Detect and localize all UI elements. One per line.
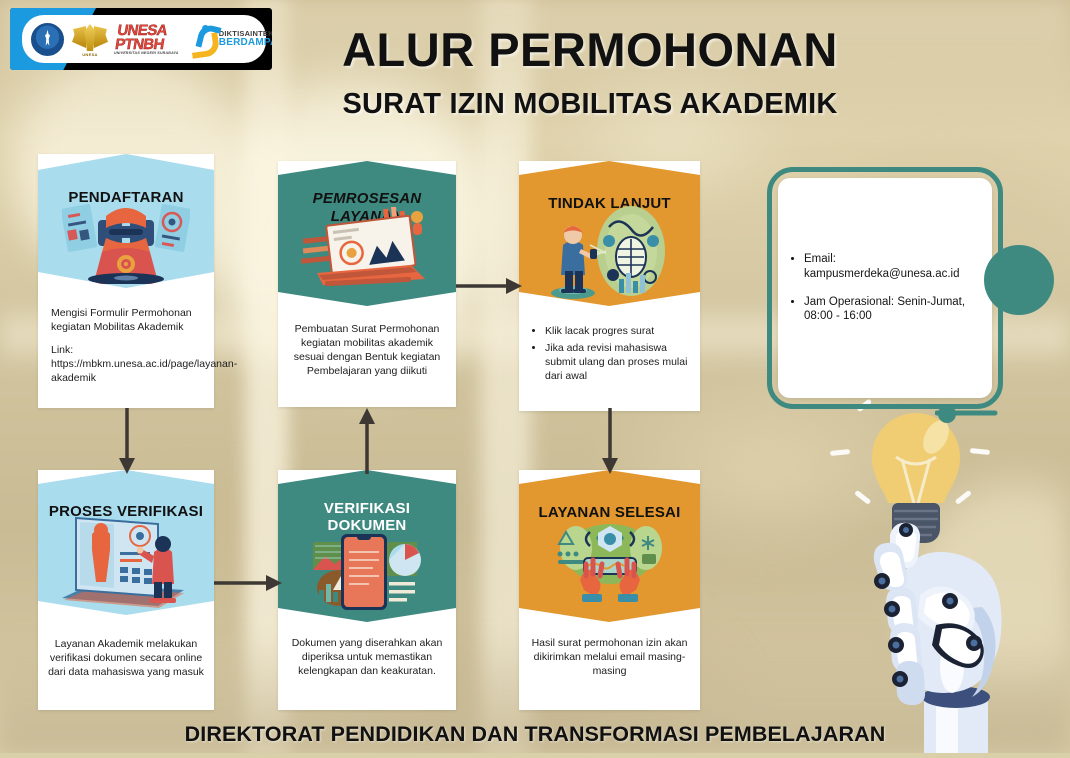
person-tracking-progress-icon (535, 205, 685, 301)
contact-email-item[interactable]: Email: kampusmerdeka@unesa.ac.id (804, 252, 965, 282)
garuda-caption: UNESA (82, 52, 98, 57)
step-card-pendaftaran[interactable]: PENDAFTARAN (38, 154, 214, 408)
contact-hours-label: Jam Operasional: Senin-Jumat, (804, 295, 965, 310)
step-header-tindak-lanjut: TINDAK LANJUT (519, 161, 700, 306)
person-checking-panel-icon (54, 512, 202, 610)
step-bullet: Jika ada revisi mahasiswa submit ulang d… (545, 341, 691, 383)
person-with-screens-icon (62, 198, 190, 284)
step-body: Layanan Akademik melakukan verifikasi do… (38, 637, 214, 679)
step-body: Pembuatan Surat Permohonan kegiatan mobi… (278, 322, 456, 378)
diktisaintek-swoosh-icon (189, 25, 215, 53)
arrow-right-verifikasi-to-dokumen (214, 574, 282, 592)
garuda-emblem-icon: UNESA (71, 22, 109, 56)
contact-email-value: kampusmerdeka@unesa.ac.id (804, 268, 960, 280)
arrow-down-pendaftaran-to-verifikasi (118, 408, 136, 474)
unesa-ptnbh-wordmark: UNESA PTNBH UNIVERSITAS NEGERI SURABAYA (114, 24, 184, 55)
ptnbh-line-2: PTNBH (114, 37, 181, 51)
diktisaintek-line-2: BERDAMPAK (219, 38, 272, 48)
step-paragraph: Pembuatan Surat Permohonan kegiatan mobi… (288, 322, 446, 378)
step-bullet: Klik lacak progres surat (545, 324, 691, 338)
institution-logo-bar: UNESA UNESA PTNBH UNIVERSITAS NEGERI SUR… (10, 8, 272, 70)
ptnbh-line-3: UNIVERSITAS NEGERI SURABAYA (114, 51, 179, 54)
contact-hours-item: Jam Operasional: Senin-Jumat, 08:00 - 16… (804, 295, 965, 325)
arrow-down-tindak-lanjut-to-selesai (601, 408, 619, 474)
robot-hand-holding-lightbulb (828, 395, 1070, 753)
step-card-proses-verifikasi[interactable]: PROSES VERIFIKASI (38, 470, 214, 710)
step-body: Hasil surat permohonan izin akan dikirim… (519, 636, 700, 678)
decor-circle-small (938, 405, 956, 423)
step-card-tindak-lanjut[interactable]: TINDAK LANJUT (519, 161, 700, 411)
step-paragraph: Link: https://mbkm.unesa.ac.id/page/laya… (51, 343, 201, 385)
contact-list: Email: kampusmerdeka@unesa.ac.id Jam Ope… (778, 252, 977, 325)
step-body: Dokumen yang diserahkan akan diperiksa u… (278, 636, 456, 678)
step-paragraph: Layanan Akademik melakukan verifikasi do… (46, 637, 206, 679)
document-report-icon (305, 526, 429, 616)
step-card-pemrosesan-layanan[interactable]: PEMROSESAN LAYANAN (278, 161, 456, 407)
logo-bar-plate: UNESA UNESA PTNBH UNIVERSITAS NEGERI SUR… (22, 15, 266, 63)
step-header-proses-verifikasi: PROSES VERIFIKASI (38, 470, 214, 615)
unesa-university-seal-icon (31, 23, 64, 56)
step-card-verifikasi-dokumen[interactable]: VERIFIKASI DOKUMEN Dokumen yang diserahk… (278, 470, 456, 710)
step-paragraph: Mengisi Formulir Permohonan kegiatan Mob… (51, 306, 201, 334)
step-header-layanan-selesai: LAYANAN SELESAI (519, 470, 700, 622)
footer-organization: DIREKTORAT PENDIDIKAN DAN TRANSFORMASI P… (0, 722, 1070, 747)
page-subtitle: SURAT IZIN MOBILITAS AKADEMIK (230, 88, 950, 121)
step-body: Klik lacak progres surat Jika ada revisi… (519, 324, 700, 383)
step-paragraph: Hasil surat permohonan izin akan dikirim… (531, 636, 688, 678)
arrow-right-pemrosesan-to-tindak-lanjut (456, 277, 522, 295)
step-bullet-list: Klik lacak progres surat Jika ada revisi… (531, 324, 691, 383)
page-title: ALUR PERMOHONAN (230, 22, 950, 77)
laptop-dashboard-icon (301, 207, 433, 293)
contact-email-label: Email: (804, 253, 836, 265)
diktisaintek-logo: DIKTISAINTEK BERDAMPAK (189, 25, 272, 53)
step-header-verifikasi-dokumen: VERIFIKASI DOKUMEN (278, 470, 456, 622)
step-header-pemrosesan: PEMROSESAN LAYANAN (278, 161, 456, 306)
step-card-layanan-selesai[interactable]: LAYANAN SELESAI Hasil surat (519, 470, 700, 710)
decor-circle-large (984, 245, 1054, 315)
contact-info-card[interactable]: Email: kampusmerdeka@unesa.ac.id Jam Ope… (778, 178, 992, 398)
contact-hours-value: 08:00 - 16:00 (804, 310, 872, 322)
step-paragraph: Dokumen yang diserahkan akan diperiksa u… (288, 636, 446, 678)
step-body: Mengisi Formulir Permohonan kegiatan Mob… (38, 306, 214, 385)
step-header-pendaftaran: PENDAFTARAN (38, 154, 214, 288)
hands-holding-device-icon (546, 518, 674, 612)
arrow-up-dokumen-to-pemrosesan (358, 408, 376, 474)
